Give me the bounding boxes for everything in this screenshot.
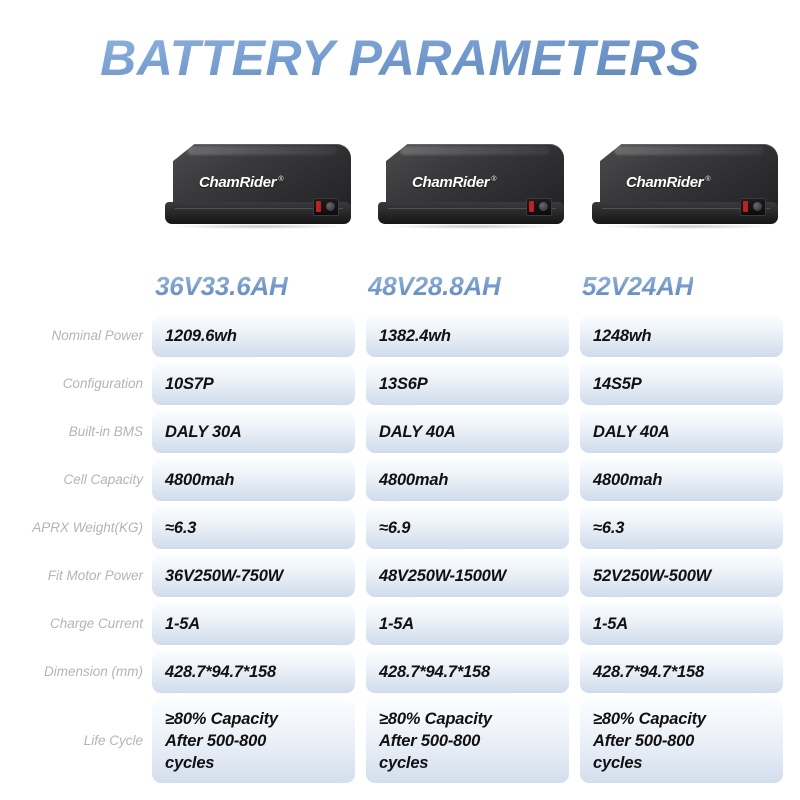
cell-dimension-48v: 428.7*94.7*158 bbox=[366, 651, 569, 693]
cell-dimension-36v: 428.7*94.7*158 bbox=[152, 651, 355, 693]
cell-configuration-48v: 13S6P bbox=[366, 363, 569, 405]
cell-cell-capacity-52v: 4800mah bbox=[580, 459, 783, 501]
cell-fit-motor-power-52v: 52V250W-500W bbox=[580, 555, 783, 597]
row-label-configuration: Configuration bbox=[0, 363, 143, 405]
table-row: Cell Capacity 4800mah 4800mah 4800mah bbox=[0, 459, 800, 507]
table-row: Built-in BMS DALY 30A DALY 40A DALY 40A bbox=[0, 411, 800, 459]
battery-brand-logo: ChamRider® bbox=[412, 172, 496, 190]
cell-nominal-power-48v: 1382.4wh bbox=[366, 315, 569, 357]
switch-knob-icon bbox=[326, 202, 335, 211]
cell-value: ≥80% Capacity After 500-800 cycles bbox=[593, 708, 706, 774]
column-header-48v: 48V28.8AH bbox=[368, 271, 501, 301]
table-row: Dimension (mm) 428.7*94.7*158 428.7*94.7… bbox=[0, 651, 800, 699]
cell-value: ≥80% Capacity After 500-800 cycles bbox=[379, 708, 492, 774]
cell-value: 4800mah bbox=[593, 470, 662, 491]
cell-value: DALY 30A bbox=[165, 422, 242, 443]
battery-brand-text: ChamRider bbox=[626, 174, 703, 191]
cell-value: 1-5A bbox=[165, 614, 200, 635]
switch-red-indicator-icon bbox=[316, 201, 321, 212]
table-row: Nominal Power 1209.6wh 1382.4wh 1248wh bbox=[0, 315, 800, 363]
cell-value: ≈6.9 bbox=[379, 518, 410, 539]
cell-cell-capacity-36v: 4800mah bbox=[152, 459, 355, 501]
battery-power-switch bbox=[526, 198, 552, 216]
cell-value: ≥80% Capacity After 500-800 cycles bbox=[165, 708, 278, 774]
row-label-dimension: Dimension (mm) bbox=[0, 651, 143, 693]
cell-value: 4800mah bbox=[165, 470, 234, 491]
cell-built-in-bms-36v: DALY 30A bbox=[152, 411, 355, 453]
cell-charge-current-36v: 1-5A bbox=[152, 603, 355, 645]
cell-nominal-power-36v: 1209.6wh bbox=[152, 315, 355, 357]
registered-mark-icon: ® bbox=[278, 176, 283, 183]
cell-built-in-bms-52v: DALY 40A bbox=[580, 411, 783, 453]
battery-image-36v: ChamRider® bbox=[165, 142, 355, 238]
cell-cell-capacity-48v: 4800mah bbox=[366, 459, 569, 501]
cell-configuration-36v: 10S7P bbox=[152, 363, 355, 405]
cell-value: 1382.4wh bbox=[379, 326, 451, 347]
table-row: Configuration 10S7P 13S6P 14S5P bbox=[0, 363, 800, 411]
table-row: Life Cycle ≥80% Capacity After 500-800 c… bbox=[0, 699, 800, 789]
row-label-aprx-weight: APRX Weight(KG) bbox=[0, 507, 143, 549]
cell-built-in-bms-48v: DALY 40A bbox=[366, 411, 569, 453]
table-row: Charge Current 1-5A 1-5A 1-5A bbox=[0, 603, 800, 651]
cell-dimension-52v: 428.7*94.7*158 bbox=[580, 651, 783, 693]
battery-image-52v: ChamRider® bbox=[592, 142, 782, 238]
cell-value: 428.7*94.7*158 bbox=[165, 662, 276, 683]
cell-value: 13S6P bbox=[379, 374, 428, 395]
cell-life-cycle-48v: ≥80% Capacity After 500-800 cycles bbox=[366, 699, 569, 783]
row-label-built-in-bms: Built-in BMS bbox=[0, 411, 143, 453]
cell-value: ≈6.3 bbox=[593, 518, 624, 539]
spec-table: Nominal Power 1209.6wh 1382.4wh 1248wh C… bbox=[0, 315, 800, 789]
cell-value: DALY 40A bbox=[593, 422, 670, 443]
cell-nominal-power-52v: 1248wh bbox=[580, 315, 783, 357]
cell-value: DALY 40A bbox=[379, 422, 456, 443]
cell-value: 36V250W-750W bbox=[165, 566, 283, 587]
cell-value: 1-5A bbox=[593, 614, 628, 635]
cell-charge-current-52v: 1-5A bbox=[580, 603, 783, 645]
switch-knob-icon bbox=[539, 202, 548, 211]
battery-brand-text: ChamRider bbox=[412, 174, 489, 191]
column-header-row: 36V33.6AH 48V28.8AH 52V24AH bbox=[0, 271, 800, 305]
battery-brand-logo: ChamRider® bbox=[199, 172, 283, 190]
cell-charge-current-48v: 1-5A bbox=[366, 603, 569, 645]
cell-value: ≈6.3 bbox=[165, 518, 196, 539]
table-row: Fit Motor Power 36V250W-750W 48V250W-150… bbox=[0, 555, 800, 603]
battery-drop-shadow bbox=[600, 224, 772, 229]
battery-brand-logo: ChamRider® bbox=[626, 172, 710, 190]
battery-highlight bbox=[187, 146, 337, 155]
cell-value: 4800mah bbox=[379, 470, 448, 491]
cell-aprx-weight-48v: ≈6.9 bbox=[366, 507, 569, 549]
cell-value: 428.7*94.7*158 bbox=[379, 662, 490, 683]
cell-value: 48V250W-1500W bbox=[379, 566, 506, 587]
switch-red-indicator-icon bbox=[743, 201, 748, 212]
battery-power-switch bbox=[740, 198, 766, 216]
cell-aprx-weight-52v: ≈6.3 bbox=[580, 507, 783, 549]
battery-highlight bbox=[614, 146, 764, 155]
table-row: APRX Weight(KG) ≈6.3 ≈6.9 ≈6.3 bbox=[0, 507, 800, 555]
column-header-36v: 36V33.6AH bbox=[155, 271, 288, 301]
cell-life-cycle-52v: ≥80% Capacity After 500-800 cycles bbox=[580, 699, 783, 783]
cell-value: 1209.6wh bbox=[165, 326, 237, 347]
row-label-nominal-power: Nominal Power bbox=[0, 315, 143, 357]
battery-image-48v: ChamRider® bbox=[378, 142, 568, 238]
battery-highlight bbox=[400, 146, 550, 155]
row-label-life-cycle: Life Cycle bbox=[0, 699, 143, 783]
cell-value: 14S5P bbox=[593, 374, 642, 395]
cell-value: 52V250W-500W bbox=[593, 566, 711, 587]
column-header-52v: 52V24AH bbox=[582, 271, 693, 301]
battery-power-switch bbox=[313, 198, 339, 216]
cell-value: 10S7P bbox=[165, 374, 214, 395]
row-label-charge-current: Charge Current bbox=[0, 603, 143, 645]
battery-brand-text: ChamRider bbox=[199, 174, 276, 191]
battery-drop-shadow bbox=[386, 224, 558, 229]
registered-mark-icon: ® bbox=[491, 176, 496, 183]
page-title: BATTERY PARAMETERS bbox=[100, 30, 700, 86]
battery-drop-shadow bbox=[173, 224, 345, 229]
cell-value: 1-5A bbox=[379, 614, 414, 635]
cell-configuration-52v: 14S5P bbox=[580, 363, 783, 405]
switch-knob-icon bbox=[753, 202, 762, 211]
cell-aprx-weight-36v: ≈6.3 bbox=[152, 507, 355, 549]
cell-life-cycle-36v: ≥80% Capacity After 500-800 cycles bbox=[152, 699, 355, 783]
page-title-container: BATTERY PARAMETERS bbox=[0, 30, 800, 86]
switch-red-indicator-icon bbox=[529, 201, 534, 212]
row-label-cell-capacity: Cell Capacity bbox=[0, 459, 143, 501]
cell-value: 1248wh bbox=[593, 326, 651, 347]
registered-mark-icon: ® bbox=[705, 176, 710, 183]
cell-fit-motor-power-36v: 36V250W-750W bbox=[152, 555, 355, 597]
cell-fit-motor-power-48v: 48V250W-1500W bbox=[366, 555, 569, 597]
cell-value: 428.7*94.7*158 bbox=[593, 662, 704, 683]
battery-image-row: ChamRider® ChamRider® ChamRider® bbox=[0, 142, 800, 247]
row-label-fit-motor-power: Fit Motor Power bbox=[0, 555, 143, 597]
